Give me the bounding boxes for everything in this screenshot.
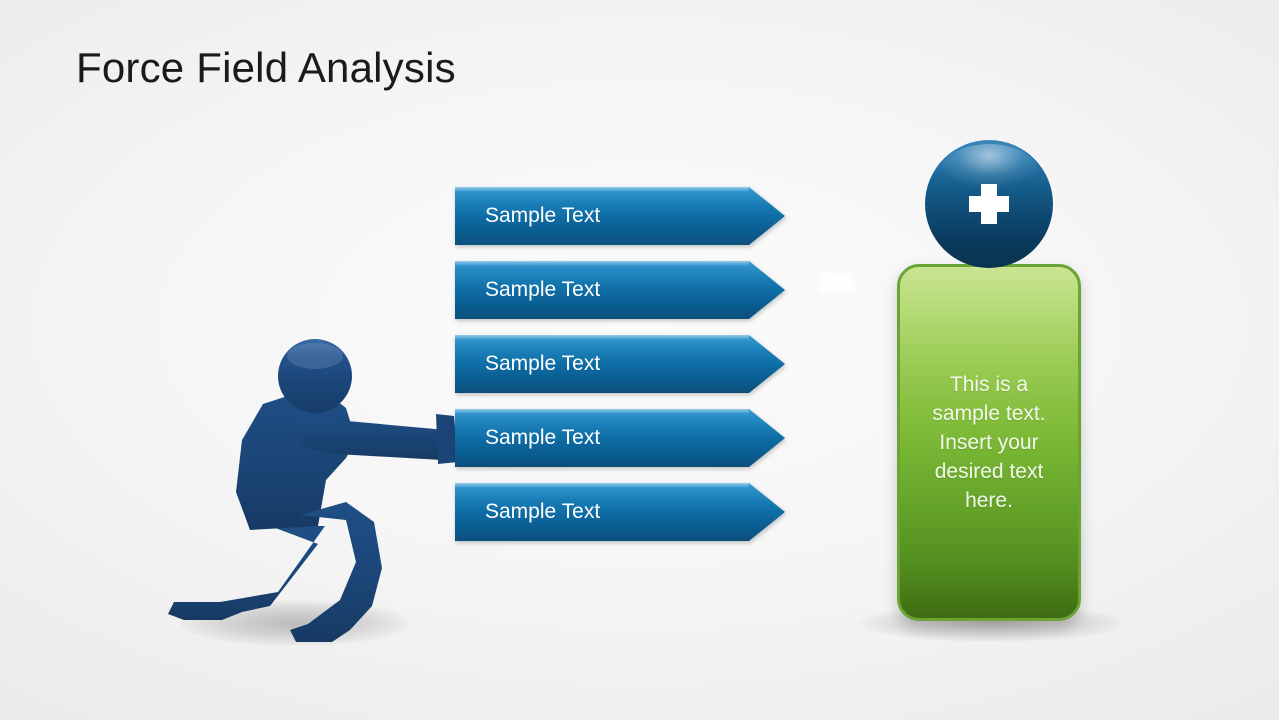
arrow-label: Sample Text — [485, 187, 600, 245]
driving-force-arrow[interactable]: Sample Text — [455, 261, 785, 319]
target-block[interactable]: This is a sample text. Insert your desir… — [897, 264, 1081, 621]
page-title: Force Field Analysis — [76, 44, 456, 92]
plus-icon — [921, 136, 1057, 272]
arrow-label: Sample Text — [485, 409, 600, 467]
arrow-label: Sample Text — [485, 483, 600, 541]
driving-force-arrow[interactable]: Sample Text — [455, 483, 785, 541]
driving-force-arrow[interactable]: Sample Text — [455, 187, 785, 245]
arrow-label: Sample Text — [485, 261, 600, 319]
pushing-person-figure — [150, 330, 480, 650]
driving-forces-arrow-list: Sample Text Sample Text Sample Text Samp… — [455, 187, 785, 557]
background-artifact — [818, 272, 856, 294]
slide-canvas: Force Field Analysis — [0, 0, 1279, 720]
driving-force-arrow[interactable]: Sample Text — [455, 335, 785, 393]
plus-badge[interactable] — [921, 136, 1057, 272]
arrow-label: Sample Text — [485, 335, 600, 393]
driving-force-arrow[interactable]: Sample Text — [455, 409, 785, 467]
target-block-text: This is a sample text. Insert your desir… — [914, 370, 1064, 515]
pushing-person-icon — [150, 330, 480, 650]
